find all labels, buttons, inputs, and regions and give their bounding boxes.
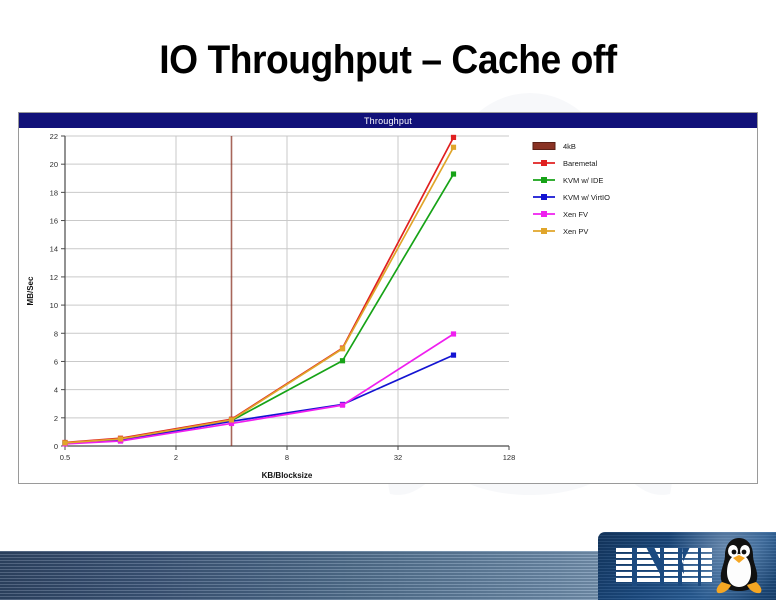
svg-text:0.5: 0.5: [60, 453, 70, 462]
svg-text:8: 8: [54, 329, 58, 338]
ibm-brand-panel: [598, 532, 776, 600]
svg-text:128: 128: [503, 453, 516, 462]
chart-title: Throughput: [364, 116, 412, 126]
svg-text:4kB: 4kB: [563, 142, 576, 151]
svg-text:2: 2: [54, 414, 58, 423]
throughput-line-chart: 02468101214161820220.52832128KB/Blocksiz…: [19, 128, 757, 483]
svg-text:32: 32: [394, 453, 402, 462]
ibm-logo-icon: [616, 548, 712, 586]
svg-text:KB/Blocksize: KB/Blocksize: [262, 471, 313, 480]
svg-text:20: 20: [50, 160, 58, 169]
svg-text:14: 14: [50, 245, 58, 254]
page-title: IO Throughput – Cache off: [27, 38, 749, 83]
legend-item: KVM w/ VirtIO: [533, 193, 610, 202]
svg-text:16: 16: [50, 217, 58, 226]
svg-text:Baremetal: Baremetal: [563, 159, 598, 168]
svg-text:KVM w/ IDE: KVM w/ IDE: [563, 176, 603, 185]
svg-text:8: 8: [285, 453, 289, 462]
legend-item: 4kB: [533, 142, 576, 151]
legend-item: Xen FV: [533, 210, 588, 219]
svg-text:KVM w/ VirtIO: KVM w/ VirtIO: [563, 193, 610, 202]
svg-text:22: 22: [50, 132, 58, 141]
legend-item: Baremetal: [533, 159, 598, 168]
chart-title-band: Throughput: [19, 113, 757, 128]
svg-text:18: 18: [50, 188, 58, 197]
svg-text:10: 10: [50, 301, 58, 310]
svg-text:Xen PV: Xen PV: [563, 227, 588, 236]
svg-text:4: 4: [54, 386, 58, 395]
legend-item: Xen PV: [533, 227, 588, 236]
svg-text:2: 2: [174, 453, 178, 462]
tux-penguin-icon: [714, 536, 764, 594]
legend-item: KVM w/ IDE: [533, 176, 603, 185]
chart-container: Throughput 02468101214161820220.52832128…: [18, 112, 758, 484]
svg-text:MB/Sec: MB/Sec: [26, 276, 35, 305]
svg-text:6: 6: [54, 357, 58, 366]
svg-text:Xen FV: Xen FV: [563, 210, 588, 219]
svg-text:12: 12: [50, 273, 58, 282]
svg-text:0: 0: [54, 442, 58, 451]
